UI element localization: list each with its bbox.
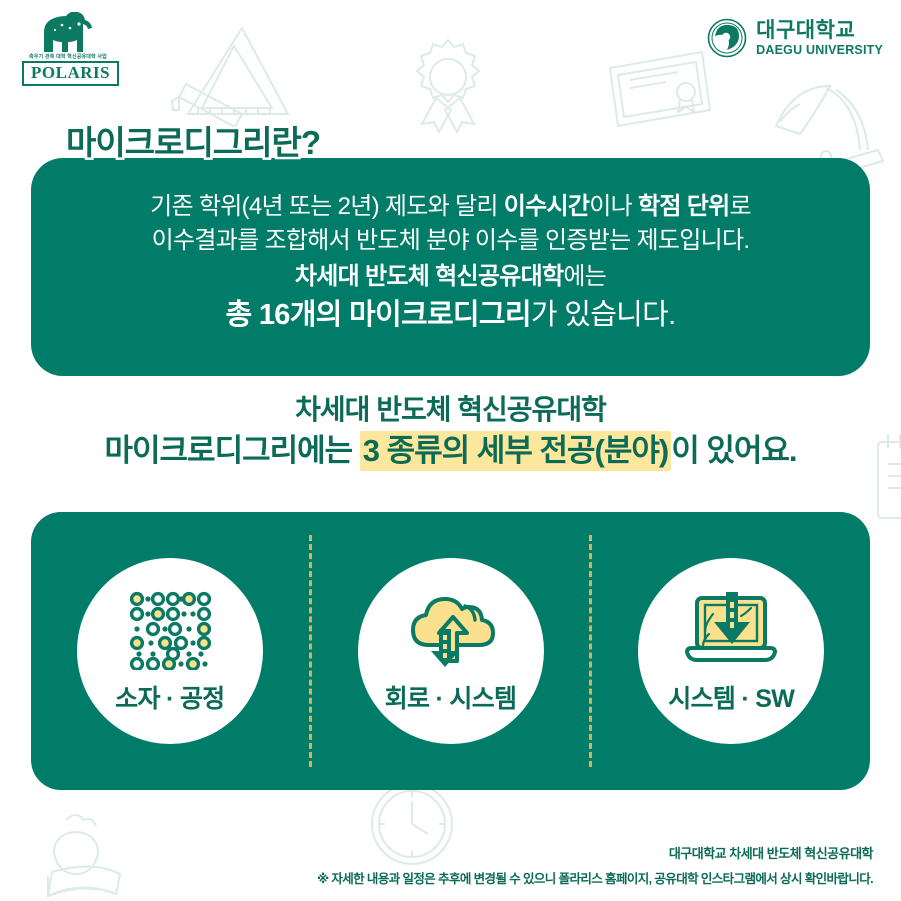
category-bubble: 소자 · 공정 bbox=[77, 558, 263, 744]
footer-title: 대구대학교 차세대 반도체 혁신공유대학 bbox=[317, 843, 873, 862]
dot-matrix-wafer-icon bbox=[127, 587, 213, 673]
footer-note: ※ 자세한 내용과 일정은 추후에 변경될 수 있으니 폴라리스 홈페이지, 공… bbox=[317, 868, 873, 887]
category-bubble: 회로 · 시스템 bbox=[358, 558, 544, 744]
daegu-university-logo: 대구대학교 DAEGU UNIVERSITY bbox=[707, 18, 883, 58]
category-cards-panel: 소자 · 공정 bbox=[31, 512, 870, 790]
intro-panel: 기존 학위(4년 또는 2년) 제도와 달리 이수시간이나 학점 단위로 이수결… bbox=[31, 158, 870, 376]
category-card-system-sw[interactable]: 시스템 · SW bbox=[592, 512, 870, 790]
category-card-device-process[interactable]: 소자 · 공정 bbox=[31, 512, 309, 790]
certificate-icon bbox=[604, 48, 716, 132]
category-label: 시스템 · SW bbox=[668, 679, 794, 715]
footer: 대구대학교 차세대 반도체 혁신공유대학 ※ 자세한 내용과 일정은 추후에 변… bbox=[317, 843, 873, 887]
intro-line-3-bold: 차세대 반도체 혁신공유대학 bbox=[295, 263, 564, 290]
mid-heading: 차세대 반도체 혁신공유대학 마이크로디그리에는 3 종류의 세부 전공(분야)… bbox=[0, 392, 901, 472]
intro-line-4: 총 16개의 마이크로디그리가 있습니다. bbox=[31, 295, 870, 336]
intro-line-2: 이수결과를 조합해서 반도체 분야 이수를 인증받는 제도입니다. bbox=[31, 224, 870, 258]
polaris-wordmark: POLARIS bbox=[22, 61, 119, 86]
daegu-university-emblem-icon bbox=[707, 18, 747, 58]
intro-line-3-post: 에는 bbox=[563, 263, 606, 290]
intro-line-1-mid: 이나 bbox=[589, 193, 638, 220]
intro-line-1-pre: 기존 학위(4년 또는 2년) 제도와 달리 bbox=[150, 193, 504, 220]
polaris-logo: 측우기 관측 대학 혁신공유대학 사업 POLARIS bbox=[22, 12, 114, 86]
mid-heading-pre: 마이크로디그리에는 bbox=[104, 433, 359, 468]
award-ribbon-icon bbox=[412, 36, 484, 134]
category-bubble: 시스템 · SW bbox=[638, 558, 824, 744]
category-card-circuit-system[interactable]: 회로 · 시스템 bbox=[312, 512, 590, 790]
intro-line-4-post: 가 있습니다. bbox=[531, 299, 676, 331]
daegu-name-en: DAEGU UNIVERSITY bbox=[756, 44, 883, 57]
cloud-transfer-arrows-icon bbox=[405, 587, 497, 673]
apple-on-book-icon bbox=[26, 806, 134, 901]
intro-line-1: 기존 학위(4년 또는 2년) 제도와 달리 이수시간이나 학점 단위로 bbox=[31, 190, 870, 224]
intro-line-1-bold-1: 이수시간 bbox=[504, 193, 590, 220]
intro-line-1-post: 로 bbox=[730, 193, 751, 220]
intro-line-4-bold: 총 16개의 마이크로디그리 bbox=[226, 299, 531, 331]
mid-heading-line-1: 차세대 반도체 혁신공유대학 bbox=[0, 392, 901, 428]
laptop-download-icon bbox=[681, 587, 781, 673]
polaris-tagline: 측우기 관측 대학 혁신공유대학 사업 bbox=[24, 55, 112, 60]
page-title: 마이크로디그리란? bbox=[66, 116, 320, 164]
mid-heading-line-2: 마이크로디그리에는 3 종류의 세부 전공(분야)이 있어요. bbox=[0, 430, 901, 472]
category-label: 소자 · 공정 bbox=[115, 679, 224, 715]
intro-line-3: 차세대 반도체 혁신공유대학에는 bbox=[31, 260, 870, 294]
daegu-name-ko: 대구대학교 bbox=[756, 20, 883, 41]
mid-heading-highlight: 3 종류의 세부 전공(분야) bbox=[360, 431, 671, 471]
infographic-page: 측우기 관측 대학 혁신공유대학 사업 POLARIS 대구대학교 DAEGU … bbox=[0, 0, 901, 901]
polar-bear-icon bbox=[38, 12, 98, 54]
mid-heading-post: 이 있어요. bbox=[671, 433, 796, 468]
intro-line-1-bold-2: 학점 단위 bbox=[638, 193, 730, 220]
category-label: 회로 · 시스템 bbox=[385, 679, 517, 715]
